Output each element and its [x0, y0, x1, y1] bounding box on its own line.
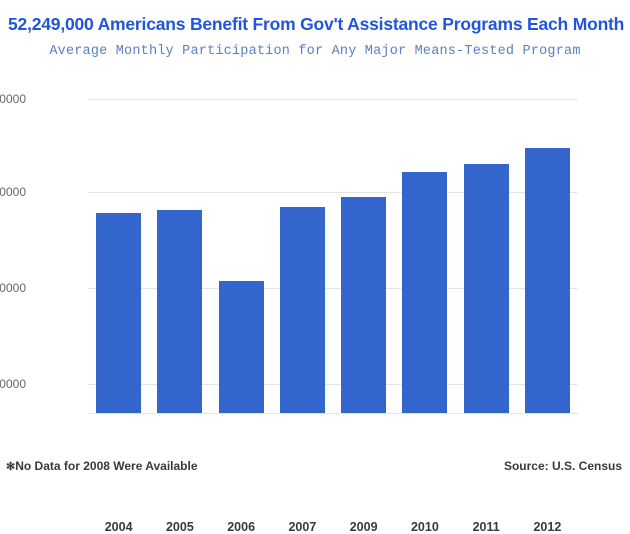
asterisk-icon: ✻ [6, 461, 15, 473]
bar-2012[interactable] [525, 148, 570, 413]
footnote: ✻No Data for 2008 Were Available [6, 459, 198, 473]
axis-baseline [88, 413, 578, 414]
bar-2011[interactable] [464, 164, 509, 413]
ytick-label-30000000: 30000000 [0, 281, 26, 295]
bar-2006[interactable] [219, 281, 264, 413]
footnote-text: No Data for 2008 Were Available [15, 459, 197, 473]
bar-2009[interactable] [341, 197, 386, 413]
ytick-label-45000000: 45000000 [0, 185, 26, 199]
plot-area: 60000000 45000000 30000000 15000000 2004… [88, 99, 578, 413]
xtick-label-2004: 2004 [88, 520, 149, 534]
xtick-label-2010: 2010 [394, 520, 455, 534]
source-note: Source: U.S. Census [504, 459, 622, 473]
xtick-label-2006: 2006 [211, 520, 272, 534]
xtick-label-2009: 2009 [333, 520, 394, 534]
bar-2004[interactable] [96, 213, 141, 413]
xtick-label-2005: 2005 [149, 520, 210, 534]
ytick-label-60000000: 60000000 [0, 92, 26, 106]
bar-2010[interactable] [402, 172, 447, 413]
chart-title: 52,249,000 Americans Benefit From Gov't … [8, 14, 622, 34]
chart-subtitle: Average Monthly Participation for Any Ma… [8, 44, 622, 59]
ytick-label-15000000: 15000000 [0, 377, 26, 391]
bar-2007[interactable] [280, 207, 325, 413]
bar-2005[interactable] [157, 210, 202, 413]
xtick-label-2011: 2011 [456, 520, 517, 534]
gridline-60000000 [88, 99, 578, 100]
xtick-label-2007: 2007 [272, 520, 333, 534]
xtick-label-2012: 2012 [517, 520, 578, 534]
chart-container: 52,249,000 Americans Benefit From Gov't … [0, 0, 630, 486]
